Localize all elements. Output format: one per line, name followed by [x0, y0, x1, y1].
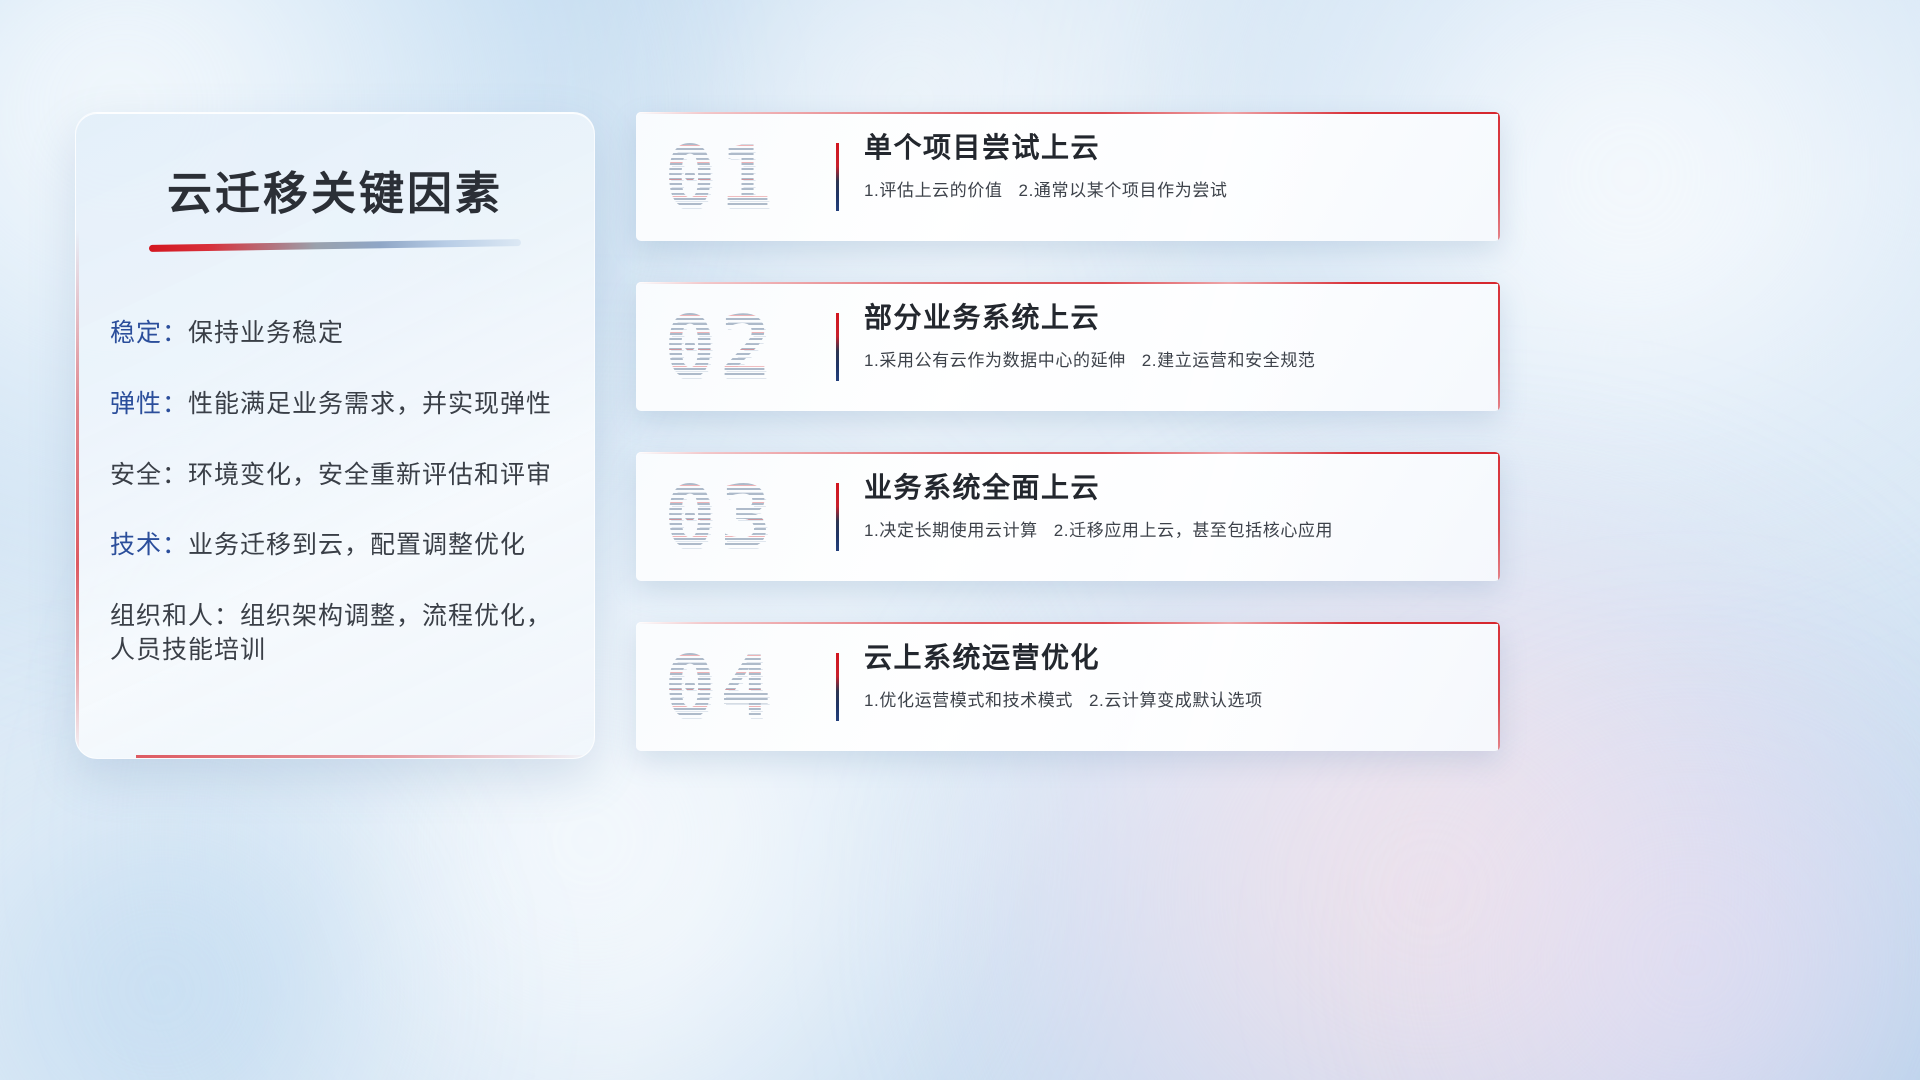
migration-stage-card[interactable]: 020202部分业务系统上云1.采用公有云作为数据中心的延伸 2.建立运营和安全… [636, 282, 1500, 411]
card-description: 1.优化运营模式和技术模式 2.云计算变成默认选项 [864, 691, 1468, 711]
key-factor-label: 弹性： [110, 390, 188, 418]
migration-stage-card[interactable]: 030303业务系统全面上云1.决定长期使用云计算 2.迁移应用上云，甚至包括核… [636, 452, 1500, 581]
migration-stage-cards: 010101单个项目尝试上云1.评估上云的价值 2.通常以某个项目作为尝试020… [636, 112, 1500, 792]
key-factor-label: 组织和人： [110, 602, 240, 630]
card-accent-divider [836, 653, 839, 721]
card-body: 业务系统全面上云1.决定长期使用云计算 2.迁移应用上云，甚至包括核心应用 [864, 472, 1468, 559]
key-factor-item: 安全：环境变化，安全重新评估和评审 [110, 459, 564, 493]
title-underline-rule [149, 239, 521, 252]
key-factor-item: 组织和人：组织架构调整，流程优化， 人员技能培训 [110, 600, 564, 668]
key-factor-text: 环境变化，安全重新评估和评审 [188, 461, 552, 489]
key-factors-list: 稳定：保持业务稳定弹性：性能满足业务需求，并实现弹性安全：环境变化，安全重新评估… [76, 317, 594, 668]
key-factor-label: 安全： [110, 461, 188, 489]
card-description: 1.决定长期使用云计算 2.迁移应用上云，甚至包括核心应用 [864, 521, 1468, 541]
card-step-number: 010101 [664, 128, 814, 228]
card-step-number: 040404 [664, 638, 814, 738]
card-accent-divider [836, 313, 839, 381]
card-body: 云上系统运营优化1.优化运营模式和技术模式 2.云计算变成默认选项 [864, 642, 1468, 729]
card-accent-divider [836, 143, 839, 211]
key-factor-label: 技术： [110, 531, 188, 559]
card-body: 部分业务系统上云1.采用公有云作为数据中心的延伸 2.建立运营和安全规范 [864, 302, 1468, 389]
card-step-number: 030303 [664, 468, 814, 568]
card-step-number-layer: 02 [664, 298, 776, 398]
card-body: 单个项目尝试上云1.评估上云的价值 2.通常以某个项目作为尝试 [864, 132, 1468, 219]
card-description: 1.采用公有云作为数据中心的延伸 2.建立运营和安全规范 [864, 351, 1468, 371]
migration-stage-card[interactable]: 010101单个项目尝试上云1.评估上云的价值 2.通常以某个项目作为尝试 [636, 112, 1500, 241]
key-factor-item: 技术：业务迁移到云，配置调整优化 [110, 529, 564, 563]
key-factors-panel: 云迁移关键因素 稳定：保持业务稳定弹性：性能满足业务需求，并实现弹性安全：环境变… [75, 112, 595, 759]
card-title: 业务系统全面上云 [864, 472, 1468, 504]
card-step-number-layer: 03 [664, 468, 776, 568]
panel-title: 云迁移关键因素 [76, 157, 594, 222]
card-title: 部分业务系统上云 [864, 302, 1468, 334]
key-factor-label: 稳定： [110, 319, 188, 347]
card-step-number-layer: 04 [664, 638, 776, 738]
key-factor-item: 弹性：性能满足业务需求，并实现弹性 [110, 388, 564, 422]
migration-stage-card[interactable]: 040404云上系统运营优化1.优化运营模式和技术模式 2.云计算变成默认选项 [636, 622, 1500, 751]
key-factor-text: 性能满足业务需求，并实现弹性 [188, 390, 552, 418]
card-step-number-layer: 01 [664, 128, 776, 228]
key-factor-text: 保持业务稳定 [188, 319, 344, 347]
card-accent-divider [836, 483, 839, 551]
card-title: 单个项目尝试上云 [864, 132, 1468, 164]
key-factor-text: 业务迁移到云，配置调整优化 [188, 531, 526, 559]
card-description: 1.评估上云的价值 2.通常以某个项目作为尝试 [864, 181, 1468, 201]
key-factor-item: 稳定：保持业务稳定 [110, 317, 564, 351]
card-step-number: 020202 [664, 298, 814, 398]
card-title: 云上系统运营优化 [864, 642, 1468, 674]
